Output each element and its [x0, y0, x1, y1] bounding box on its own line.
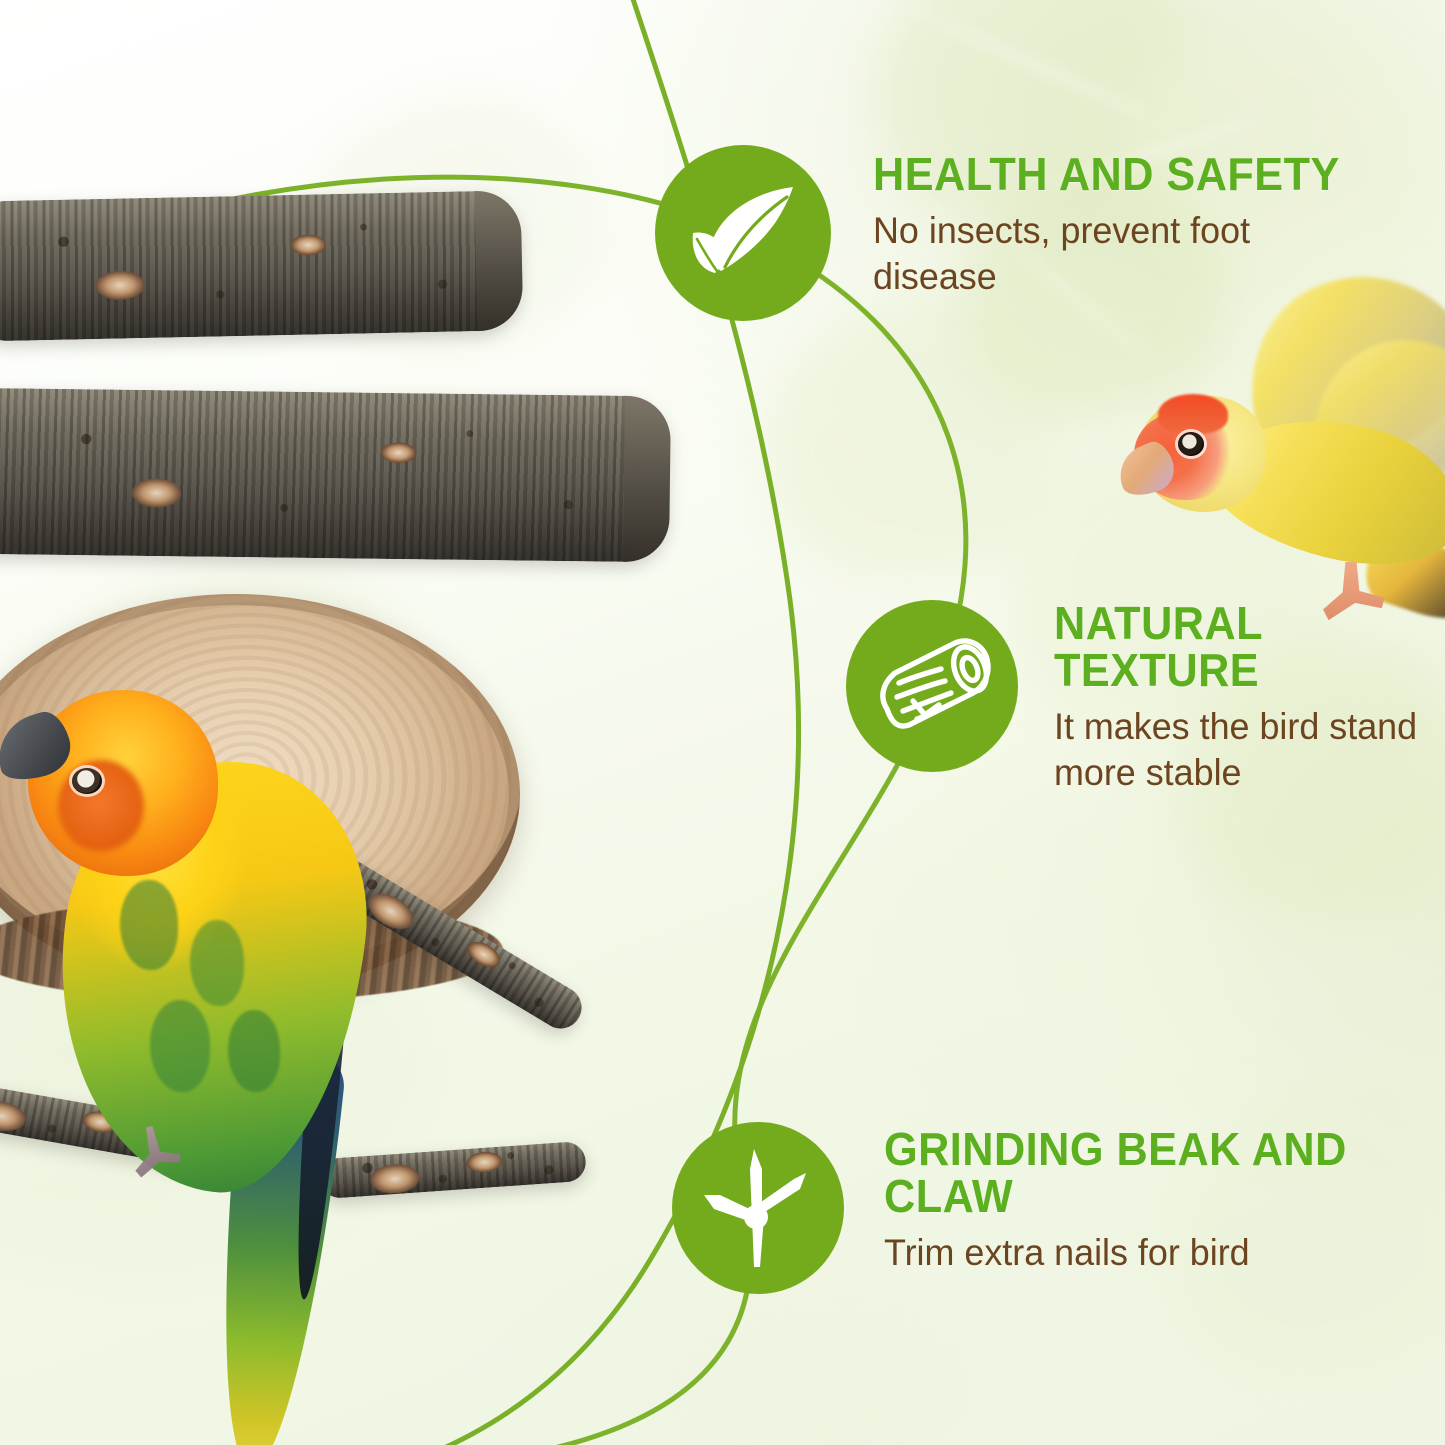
- leaf-icon-circle: [655, 145, 831, 321]
- feature-grinding-beak-and-claw: GRINDING BEAK AND CLAW Trim extra nails …: [672, 1122, 1432, 1294]
- feature-title: NATURAL TEXTURE: [1054, 600, 1298, 694]
- feature-health-and-safety: HEALTH AND SAFETY No insects, prevent fo…: [655, 145, 1415, 321]
- feature-description: No insects, prevent foot disease: [873, 208, 1290, 300]
- feature-title: GRINDING BEAK AND CLAW: [884, 1126, 1354, 1220]
- feature-description: It makes the bird stand more stable: [1054, 704, 1434, 796]
- bird-claw-icon: [702, 1145, 814, 1271]
- infographic-canvas: HEALTH AND SAFETY No insects, prevent fo…: [0, 0, 1445, 1445]
- feature-description: Trim extra nails for bird: [884, 1230, 1350, 1276]
- log-icon: [869, 631, 995, 741]
- log-icon-circle: [846, 600, 1018, 772]
- sun-conure-parrot: [0, 0, 660, 1445]
- feature-title: HEALTH AND SAFETY: [873, 151, 1362, 198]
- bird-claw-icon-circle: [672, 1122, 844, 1294]
- leaf-icon: [687, 181, 799, 285]
- feature-natural-texture: NATURAL TEXTURE It makes the bird stand …: [846, 600, 1445, 796]
- product-photo-composition: [0, 0, 660, 1445]
